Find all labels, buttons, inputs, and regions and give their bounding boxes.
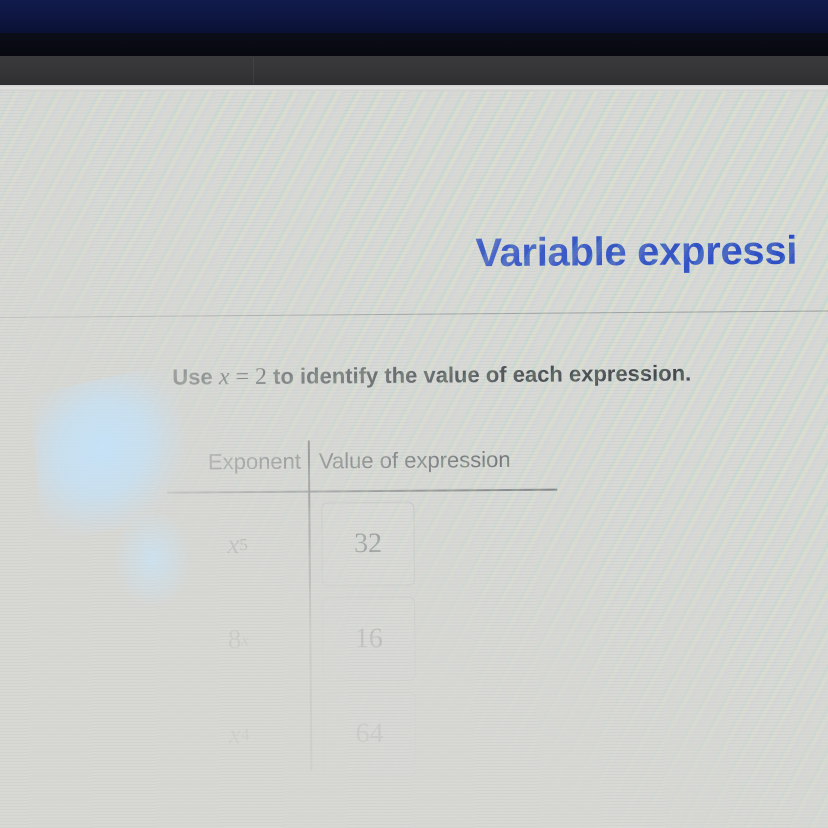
prompt-value: 2 [255, 364, 267, 390]
table-row: x5 32 [173, 495, 564, 593]
prompt-text: Use x = 2 to identify the value of each … [172, 361, 691, 392]
monitor-photo: Variable expressi Use x = 2 to identify … [0, 0, 828, 828]
desktop-wallpaper-band [0, 0, 828, 33]
expression-cell: x4 [175, 687, 304, 783]
table-row: 8x 16 [174, 590, 565, 688]
expression-base: 8 [228, 624, 242, 655]
expression-base: x [229, 719, 241, 750]
page-title: Variable expressi [475, 229, 797, 277]
prompt-equals: = [229, 364, 255, 390]
table-header-rule [167, 489, 557, 494]
screen-area: Variable expressi Use x = 2 to identify … [0, 91, 828, 828]
answer-input[interactable]: 16 [322, 597, 416, 682]
exercise-content: Variable expressi Use x = 2 to identify … [0, 91, 828, 828]
column-header-exponent: Exponent [173, 449, 301, 476]
expression-cell: x5 [173, 497, 302, 593]
expression-cell: 8x [174, 592, 303, 688]
answer-input[interactable]: 64 [323, 692, 417, 777]
column-header-value: Value of expression [319, 447, 511, 475]
window-dark-band [0, 33, 828, 58]
bezel-seam [253, 58, 254, 84]
table-row: x4 64 [175, 685, 566, 783]
exercise-page: Variable expressi Use x = 2 to identify … [0, 91, 828, 828]
prompt-tail: to identify the value of each expression… [267, 361, 691, 389]
prompt-variable: x [219, 364, 230, 390]
expression-base: x [227, 529, 239, 560]
monitor-bezel [0, 56, 828, 86]
header-divider [0, 310, 828, 318]
prompt-lead: Use [172, 364, 219, 389]
answer-input[interactable]: 32 [321, 502, 415, 587]
